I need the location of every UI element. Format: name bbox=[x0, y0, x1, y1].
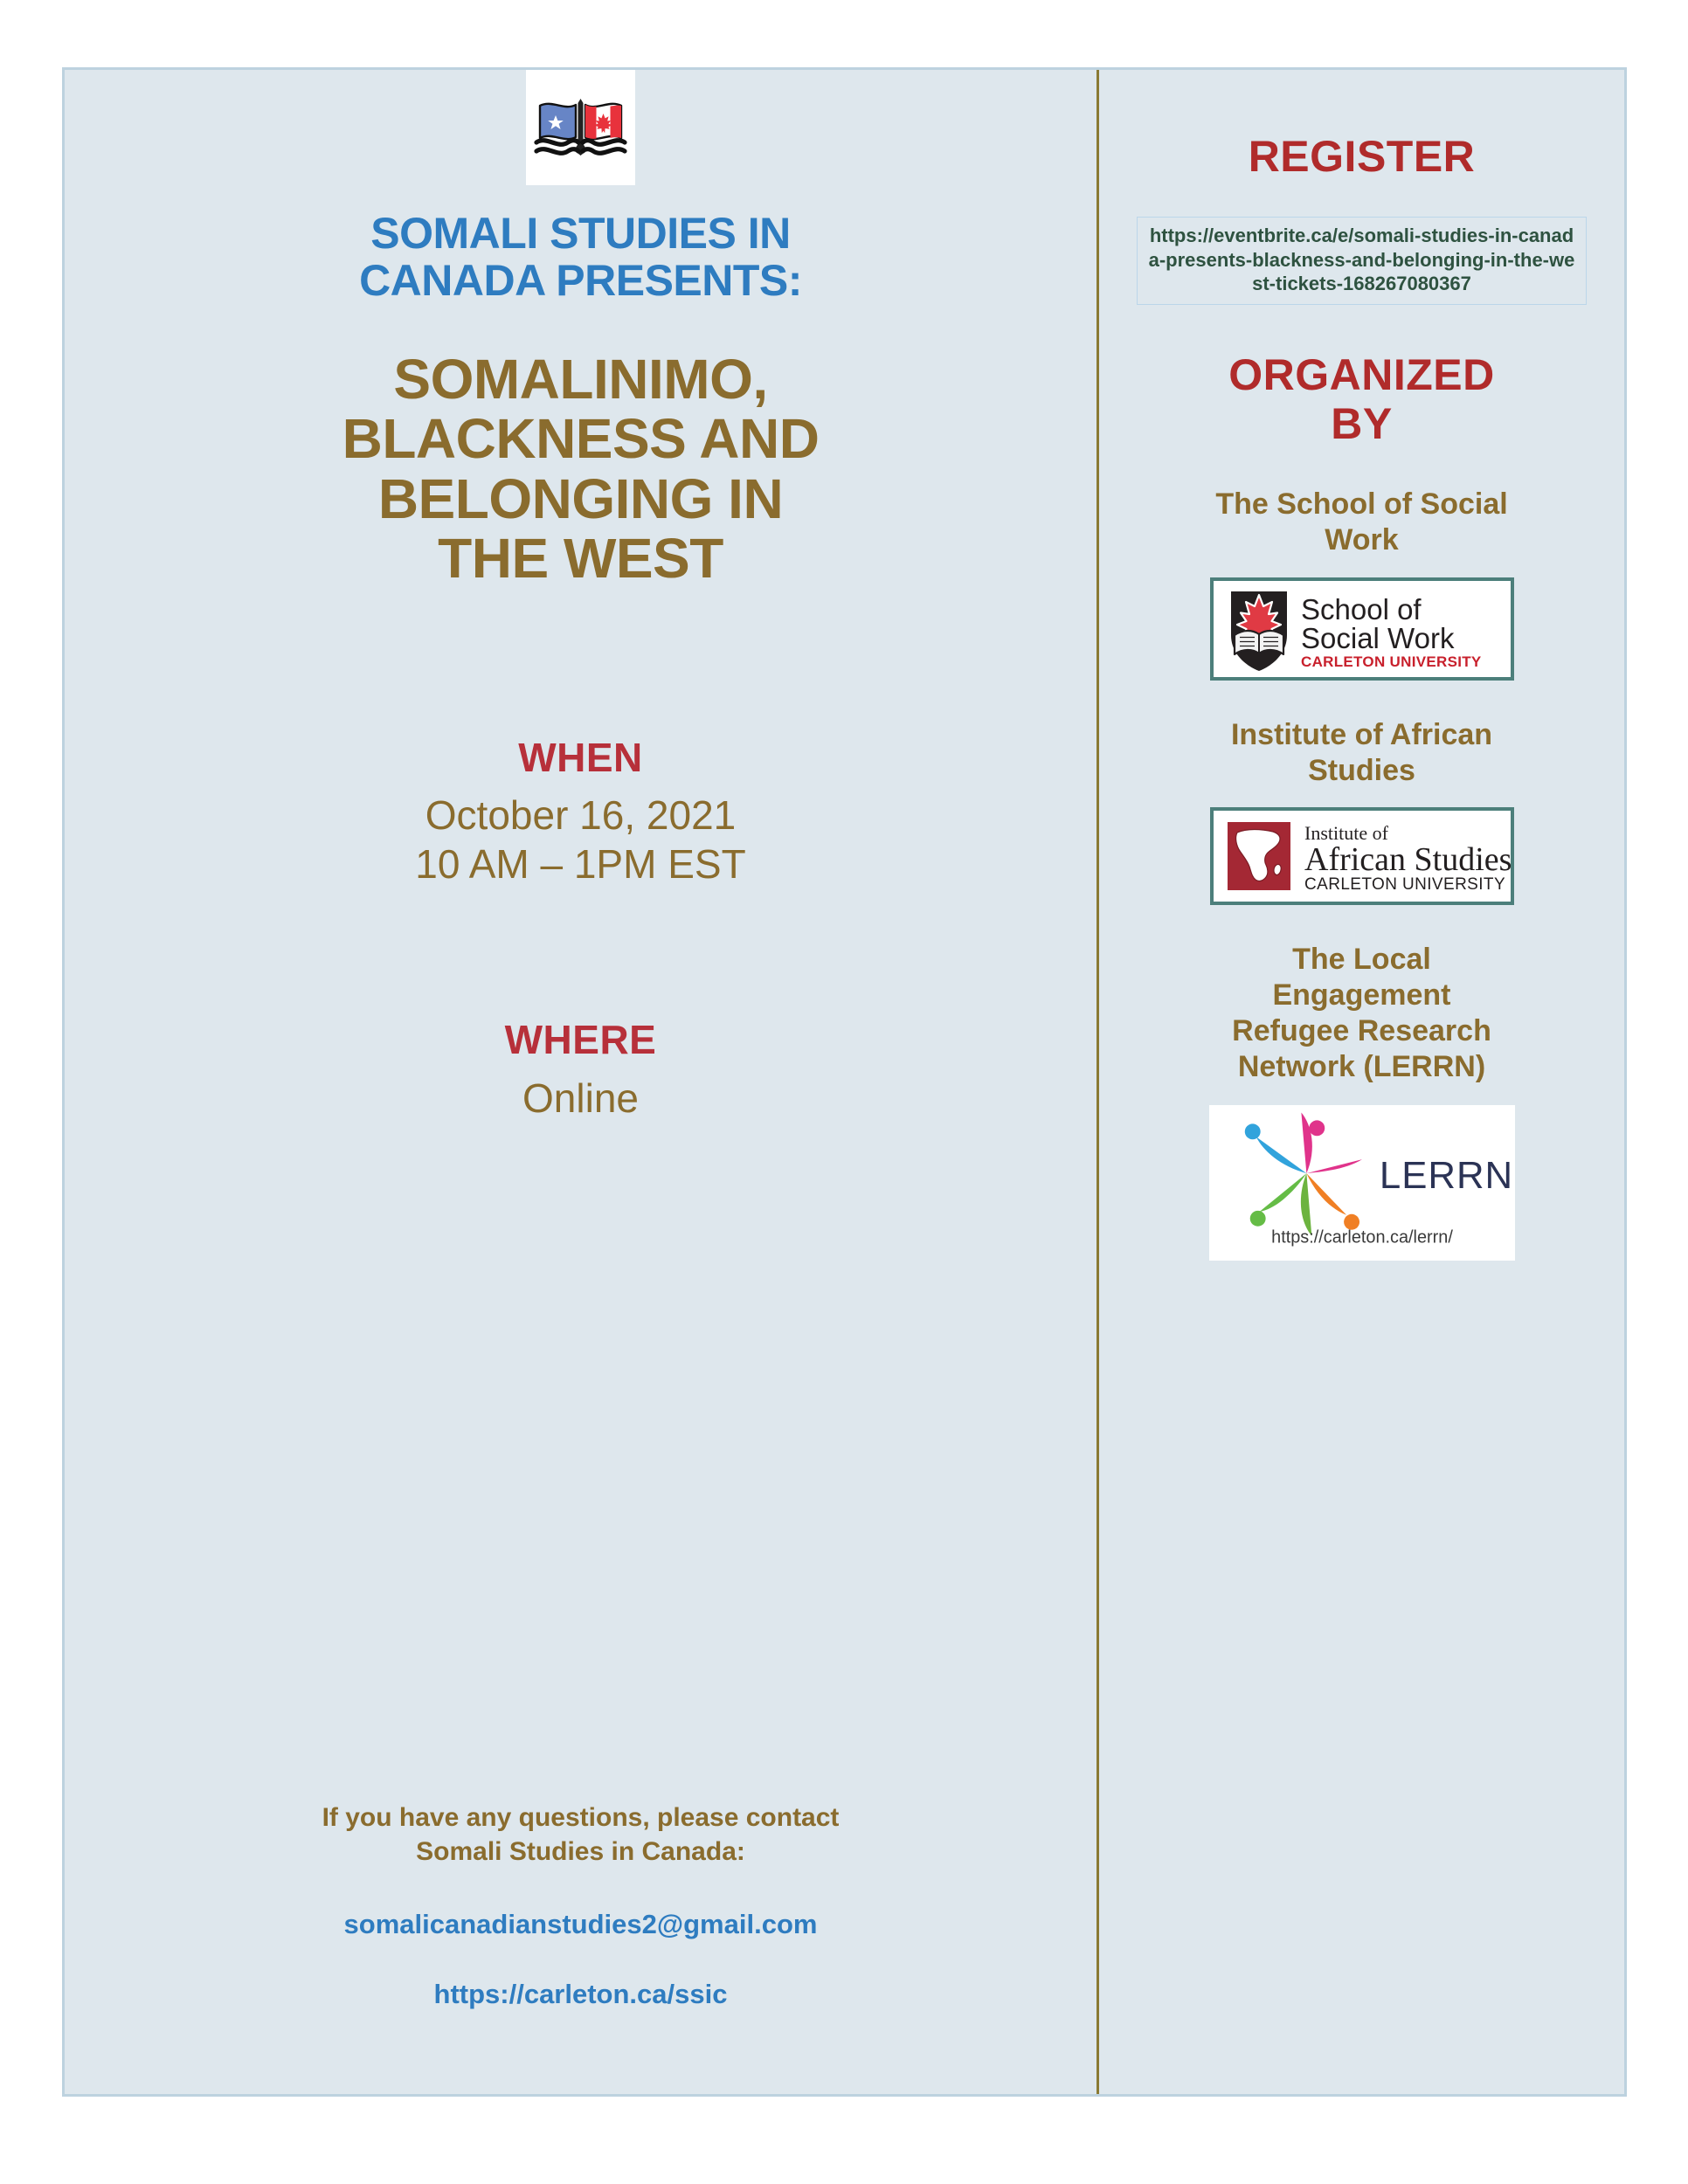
presents-heading: SOMALI STUDIES IN CANADA PRESENTS: bbox=[100, 210, 1062, 304]
carleton-school-of-social-work-icon: School of Social Work CARLETON UNIVERSIT… bbox=[1214, 581, 1511, 677]
logo-card-institute-of-african-studies: Institute of African Studies CARLETON UN… bbox=[1210, 807, 1514, 905]
when-block: WHEN October 16, 2021 10 AM – 1PM EST bbox=[100, 736, 1062, 888]
ssw-logo-line1: School of bbox=[1301, 593, 1422, 625]
where-block: WHERE Online bbox=[100, 1018, 1062, 1124]
somali-canadian-flags-book-icon bbox=[526, 85, 635, 185]
event-title: SOMALINIMO, BLACKNESS AND BELONGING IN T… bbox=[100, 349, 1062, 589]
lerrn-wordmark: LERRN bbox=[1379, 1153, 1512, 1196]
carleton-institute-of-african-studies-icon: Institute of African Studies CARLETON UN… bbox=[1214, 811, 1511, 902]
lerrn-url: https://carleton.ca/lerrn/ bbox=[1271, 1227, 1453, 1247]
when-label: WHEN bbox=[100, 736, 1062, 780]
organized-by-heading: ORGANIZED BY bbox=[1120, 350, 1603, 448]
ias-logo-line2: African Studies bbox=[1304, 841, 1511, 878]
ias-logo-line3: CARLETON UNIVERSITY bbox=[1304, 875, 1505, 894]
poster-panel: SOMALI STUDIES IN CANADA PRESENTS: SOMAL… bbox=[62, 67, 1627, 2097]
org-name-lerrn: The Local Engagement Refugee Research Ne… bbox=[1120, 942, 1603, 1084]
contact-block: If you have any questions, please contac… bbox=[65, 1800, 1097, 2010]
register-heading: REGISTER bbox=[1120, 131, 1603, 182]
ssw-logo-line2: Social Work bbox=[1301, 622, 1455, 654]
register-url-box[interactable]: https://eventbrite.ca/e/somali-studies-i… bbox=[1137, 217, 1587, 305]
when-date: October 16, 2021 bbox=[100, 791, 1062, 840]
lerrn-icon: LERRN https://carleton.ca/lerrn/ bbox=[1209, 1105, 1515, 1261]
contact-website-link[interactable]: https://carleton.ca/ssic bbox=[65, 1979, 1097, 2010]
where-label: WHERE bbox=[100, 1018, 1062, 1062]
contact-intro: If you have any questions, please contac… bbox=[65, 1800, 1097, 1869]
when-time: 10 AM – 1PM EST bbox=[100, 840, 1062, 888]
poster-page: SOMALI STUDIES IN CANADA PRESENTS: SOMAL… bbox=[0, 0, 1688, 2184]
left-column: SOMALI STUDIES IN CANADA PRESENTS: SOMAL… bbox=[65, 70, 1097, 2094]
where-value: Online bbox=[100, 1074, 1062, 1124]
contact-email-link[interactable]: somalicanadianstudies2@gmail.com bbox=[65, 1909, 1097, 1940]
logo-card-school-of-social-work: School of Social Work CARLETON UNIVERSIT… bbox=[1210, 577, 1514, 681]
org-name-school-of-social-work: The School of Social Work bbox=[1120, 487, 1603, 558]
when-value: October 16, 2021 10 AM – 1PM EST bbox=[100, 791, 1062, 888]
right-column: REGISTER https://eventbrite.ca/e/somali-… bbox=[1099, 70, 1624, 2094]
ssw-logo-line3: CARLETON UNIVERSITY bbox=[1301, 653, 1482, 670]
organization-logo-container bbox=[526, 70, 635, 185]
org-name-institute-of-african-studies: Institute of African Studies bbox=[1120, 717, 1603, 789]
logo-card-lerrn: LERRN https://carleton.ca/lerrn/ bbox=[1208, 1104, 1516, 1261]
